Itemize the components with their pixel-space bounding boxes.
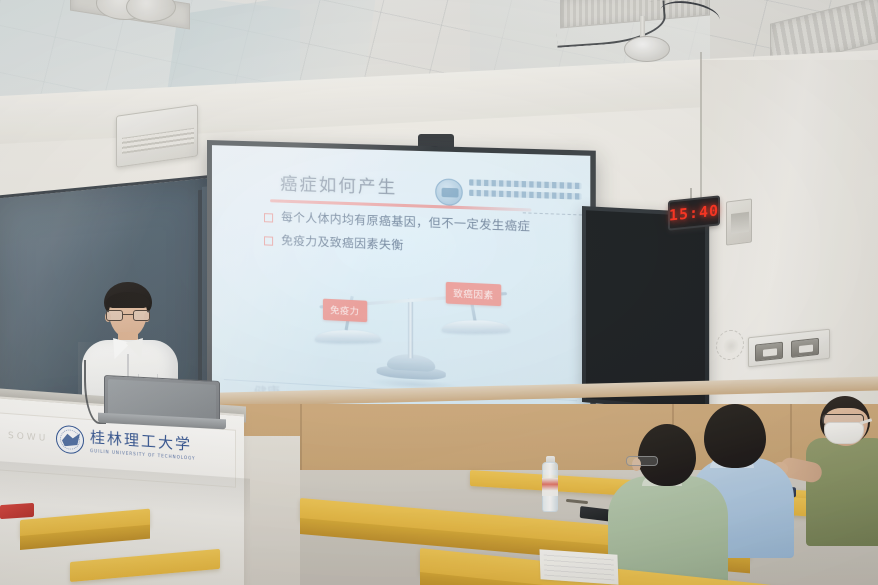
led-clock: 15:40	[668, 195, 720, 230]
university-seal-icon	[56, 425, 84, 455]
organization-logo-icon	[435, 178, 463, 206]
bullet-text: 每个人体内均有原癌基因，但不一定发生癌症	[281, 210, 530, 235]
wall-box-slot	[731, 212, 749, 234]
slide-title-underline	[270, 199, 531, 211]
glasses-bridge	[123, 314, 133, 315]
red-item	[0, 503, 34, 519]
light-switch[interactable]	[791, 338, 819, 358]
glasses-icon	[626, 456, 658, 466]
face-mask-icon	[824, 422, 864, 444]
scale-label-right: 致癌因素	[446, 282, 501, 306]
slide-title-dashed-rule	[523, 212, 591, 216]
display-bezel	[586, 210, 705, 409]
lecture-hall-photo: 癌症如何产生 每个人体内均有原癌基因，但不一定发生癌症 免疫力及致癌因素失衡	[0, 0, 878, 585]
scale-post	[408, 299, 413, 359]
audience-torso	[806, 438, 878, 546]
scale-pan-left	[314, 330, 381, 342]
scale-pan-right	[441, 320, 510, 333]
list-item: 免疫力及致癌因素失衡	[264, 232, 579, 261]
paper-text-lines	[544, 554, 615, 581]
bullet-square-icon	[264, 213, 273, 222]
slide-bullet-list: 每个人体内均有原癌基因，但不一定发生癌症 免疫力及致癌因素失衡	[264, 209, 579, 268]
organization-logo-text	[469, 179, 581, 204]
clock-time-display: 15:40	[670, 197, 718, 228]
balance-scale-graphic: 免疫力 致癌因素	[309, 276, 530, 399]
glasses-lens	[133, 310, 150, 321]
bottle-label	[542, 478, 558, 496]
bullet-text: 免疫力及致癌因素失衡	[281, 232, 404, 253]
audience-torso	[608, 476, 728, 585]
bullet-square-icon	[264, 236, 273, 245]
audience-member	[806, 396, 878, 546]
light-switch[interactable]	[755, 342, 783, 362]
audience-head	[638, 424, 696, 486]
wall-mounted-box	[726, 198, 752, 245]
logo-text-line	[469, 179, 581, 189]
ceiling-speaker-icon	[624, 36, 670, 62]
ac-louvers	[122, 128, 194, 154]
audience-member	[612, 424, 722, 585]
logo-text-line	[469, 190, 581, 200]
glasses-icon	[106, 310, 151, 322]
handout-paper	[540, 549, 619, 585]
slide-title: 癌症如何产生	[280, 169, 397, 198]
presenter-hairline	[106, 292, 150, 308]
glasses-lens	[106, 310, 123, 321]
scale-label-left: 免疫力	[323, 299, 367, 323]
